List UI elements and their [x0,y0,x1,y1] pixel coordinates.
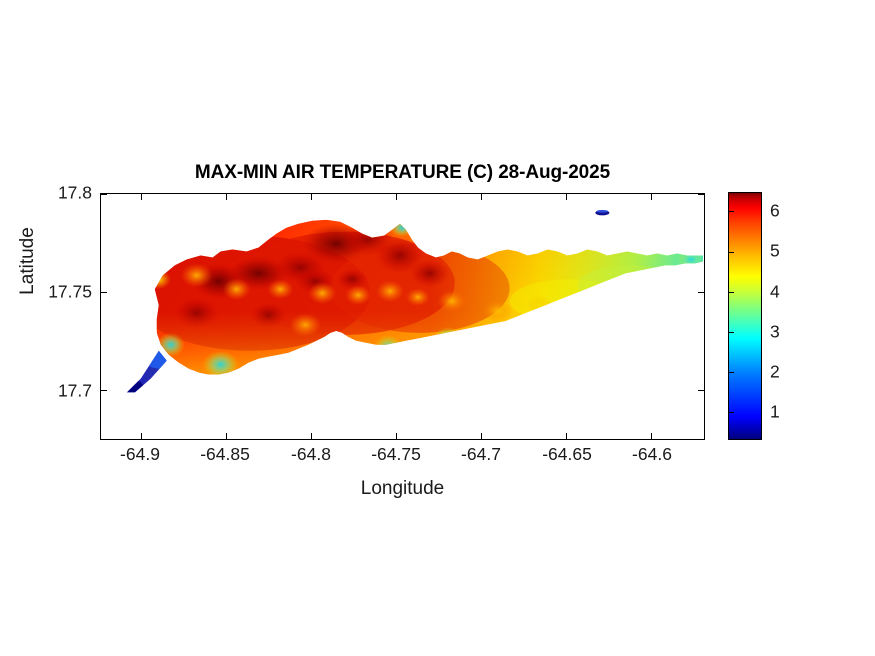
island-contour-fill [101,194,704,439]
xticklabel: -64.9 [120,444,160,465]
xtick-top [226,194,227,200]
chart-title: MAX-MIN AIR TEMPERATURE (C) 28-Aug-2025 [100,162,705,184]
xtick-top [311,194,312,200]
xticklabel: -64.65 [542,444,592,465]
yticklabel: 17.8 [58,183,92,204]
xtick [481,433,482,439]
ytick-right [698,292,704,293]
x-axis-label: Longitude [100,478,705,500]
ytick [101,292,107,293]
colorbar-tick [729,412,734,413]
ytick-right [698,390,704,391]
ytick-right [698,194,704,195]
xtick [651,433,652,439]
colorbar[interactable] [728,192,762,440]
colorbar-ticklabel: 6 [770,201,780,222]
xtick-top [396,194,397,200]
xtick [141,433,142,439]
colorbar-ticklabel: 1 [770,402,780,423]
xtick-top [141,194,142,200]
contour-map [101,194,704,439]
colorbar-ticklabel: 2 [770,362,780,383]
map-axes[interactable] [100,193,705,440]
colorbar-tick [729,211,734,212]
xticklabel: -64.75 [371,444,421,465]
ytick [101,390,107,391]
xticklabel: -64.7 [461,444,501,465]
colorbar-tick [729,332,734,333]
xtick [226,433,227,439]
colorbar-tick [729,252,734,253]
buck-island-highlight [596,210,608,213]
xticklabel: -64.8 [291,444,331,465]
colorbar-ticklabel: 3 [770,322,780,343]
y-axis-label: Latitude [17,191,39,331]
figure-canvas: MAX-MIN AIR TEMPERATURE (C) 28-Aug-2025 [0,0,875,656]
colorbar-ticklabel: 4 [770,282,780,303]
colorbar-ticklabel: 5 [770,241,780,262]
xtick-top [481,194,482,200]
xticklabel: -64.6 [632,444,672,465]
ytick [101,194,107,195]
yticklabel: 17.75 [48,282,92,303]
colorbar-tick [729,292,734,293]
xtick [311,433,312,439]
yticklabel: 17.7 [58,381,92,402]
colorbar-tick [729,372,734,373]
xtick [566,433,567,439]
xticklabel: -64.85 [200,444,250,465]
xtick-top [566,194,567,200]
xtick [396,433,397,439]
xtick-top [651,194,652,200]
